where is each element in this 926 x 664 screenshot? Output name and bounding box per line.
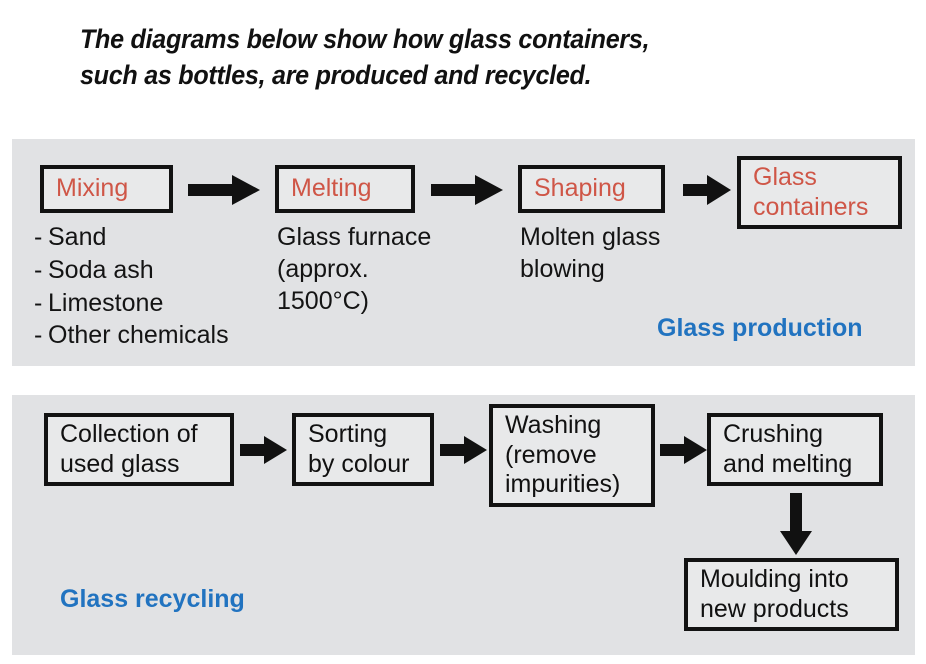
shaping-caption: Molten glass blowing bbox=[520, 221, 660, 285]
bullet-marker: - bbox=[34, 221, 48, 254]
glass-production-panel: Mixing - Sand - Soda ash - Limestone - O… bbox=[12, 139, 915, 366]
process-box-label: Collection of used glass bbox=[60, 420, 218, 479]
arrow-right-icon bbox=[188, 175, 260, 205]
process-box-label: Moulding into new products bbox=[700, 565, 883, 624]
list-item-label: Soda ash bbox=[48, 254, 154, 287]
glass-production-label: Glass production bbox=[657, 314, 863, 343]
process-box-label: Glass containers bbox=[753, 163, 886, 222]
process-box-crushing[interactable]: Crushing and melting bbox=[707, 413, 883, 486]
glass-recycling-panel: Collection of used glass Sorting by colo… bbox=[12, 395, 915, 655]
process-box-shaping[interactable]: Shaping bbox=[518, 165, 665, 213]
process-box-collection[interactable]: Collection of used glass bbox=[44, 413, 234, 486]
melting-caption: Glass furnace (approx. 1500°C) bbox=[277, 221, 431, 317]
process-box-label: Crushing and melting bbox=[723, 420, 867, 479]
process-box-label: Shaping bbox=[534, 174, 649, 204]
page-title: The diagrams below show how glass contai… bbox=[80, 22, 824, 94]
list-item: - Other chemicals bbox=[34, 319, 229, 352]
process-box-moulding[interactable]: Moulding into new products bbox=[684, 558, 899, 631]
list-item-label: Limestone bbox=[48, 287, 163, 320]
list-item-label: Other chemicals bbox=[48, 319, 229, 352]
process-box-label: Mixing bbox=[56, 174, 157, 204]
process-box-mixing[interactable]: Mixing bbox=[40, 165, 173, 213]
arrow-right-icon bbox=[240, 436, 287, 464]
list-item-label: Sand bbox=[48, 221, 106, 254]
glass-recycling-label: Glass recycling bbox=[60, 585, 245, 614]
process-box-label: Washing (remove impurities) bbox=[505, 411, 639, 500]
list-item: - Limestone bbox=[34, 287, 229, 320]
arrow-right-icon bbox=[440, 436, 487, 464]
bullet-marker: - bbox=[34, 287, 48, 320]
arrow-down-icon bbox=[780, 493, 812, 555]
process-box-sorting[interactable]: Sorting by colour bbox=[292, 413, 434, 486]
arrow-right-icon bbox=[683, 175, 731, 205]
arrow-right-icon bbox=[431, 175, 503, 205]
arrow-right-icon bbox=[660, 436, 707, 464]
process-box-label: Sorting by colour bbox=[308, 420, 418, 479]
process-box-label: Melting bbox=[291, 174, 399, 204]
list-item: - Sand bbox=[34, 221, 229, 254]
process-box-washing[interactable]: Washing (remove impurities) bbox=[489, 404, 655, 507]
list-item: - Soda ash bbox=[34, 254, 229, 287]
process-box-glass-containers[interactable]: Glass containers bbox=[737, 156, 902, 229]
process-box-melting[interactable]: Melting bbox=[275, 165, 415, 213]
bullet-marker: - bbox=[34, 319, 48, 352]
ingredients-list: - Sand - Soda ash - Limestone - Other ch… bbox=[34, 221, 229, 352]
bullet-marker: - bbox=[34, 254, 48, 287]
